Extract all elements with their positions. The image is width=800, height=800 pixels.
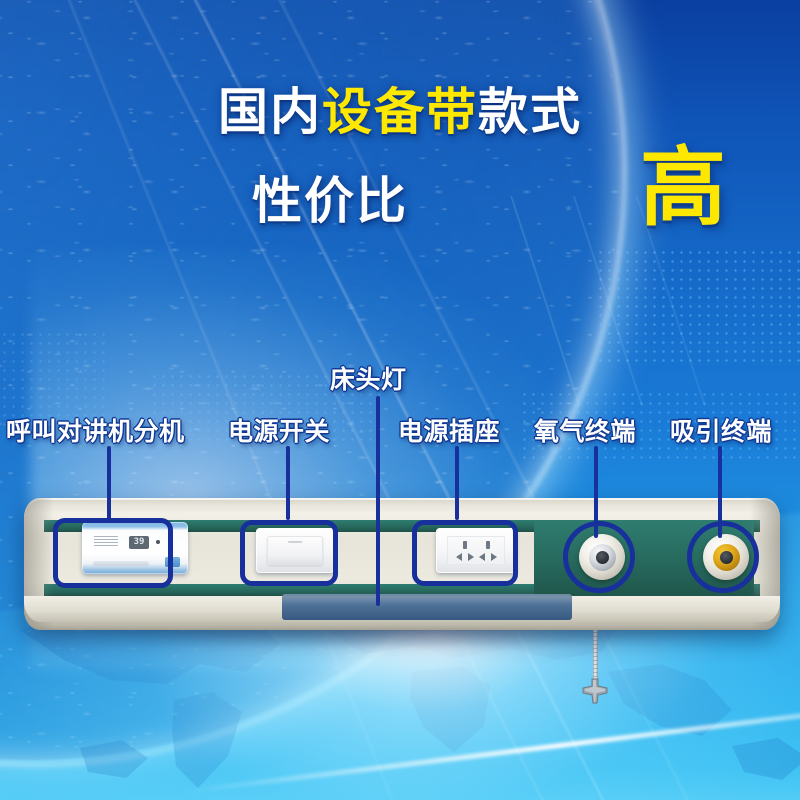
- leader-line-power-switch: [286, 446, 290, 520]
- callout-label-power-switch: 电源开关: [228, 412, 330, 448]
- oxygen-probe-fitting: [581, 678, 609, 704]
- highlight-circle-suction: [687, 521, 759, 593]
- highlight-box-power-switch: [240, 520, 338, 586]
- headline-line-1: 国内设备带款式: [0, 86, 800, 139]
- headline-line1-accent: 设备带: [322, 84, 478, 140]
- headline-line1-part1: 国内: [218, 84, 322, 140]
- highlight-box-intercom: [53, 518, 173, 588]
- highlight-circle-oxygen: [563, 521, 635, 593]
- leader-line-bed-lamp: [376, 396, 380, 606]
- headline-line1-part2: 款式: [478, 84, 582, 140]
- callout-label-suction: 吸引终端: [670, 412, 772, 448]
- callout-label-intercom: 呼叫对讲机分机: [6, 412, 185, 448]
- callout-label-oxygen: 氧气终端: [534, 412, 636, 448]
- promotional-image: 国内设备带款式 性价比 高 呼叫对讲机分机 电源开关 床头灯 电源插座 氧气终端…: [0, 0, 800, 800]
- halftone-dots-upper-right: [596, 248, 800, 366]
- highlight-box-power-socket: [412, 520, 518, 586]
- leader-line-power-socket: [455, 446, 459, 520]
- panel-rail-insert: [282, 594, 572, 620]
- callout-label-bed-lamp: 床头灯: [330, 360, 407, 396]
- headline-line-2: 性价比: [252, 161, 408, 233]
- headline-big-word: 高: [640, 145, 726, 231]
- leader-line-intercom: [107, 446, 111, 520]
- callout-label-power-socket: 电源插座: [398, 412, 500, 448]
